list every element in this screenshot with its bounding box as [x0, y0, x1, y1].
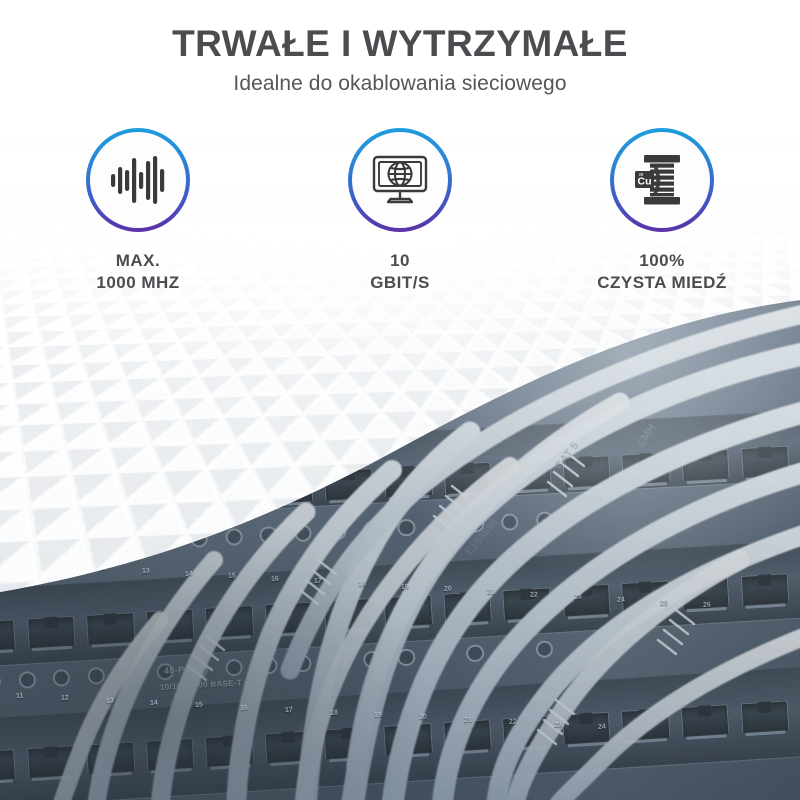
feature-item-speed: 10 GBIT/S [325, 128, 475, 294]
feature-label-copper: 100% CZYSTA MIEDŹ [597, 250, 726, 294]
switch-port-number: 19 [401, 583, 409, 590]
feature-label-speed: 10 GBIT/S [370, 250, 430, 294]
feature-item-copper: Cu 29 100% CZYSTA MIEDŹ [587, 128, 737, 294]
switch-port-number: 16 [240, 704, 248, 711]
page-title: TRWAŁE I WYTRZYMAŁE [0, 24, 800, 63]
switch-port-number: 15 [228, 573, 236, 580]
copper-atomic-number: 29 [639, 172, 644, 177]
ring-inner-disc [352, 132, 448, 228]
switch-port-number: 22 [509, 719, 517, 726]
cable-print-cmh: CMH [635, 422, 659, 450]
switch-port-number: 14 [185, 570, 193, 577]
switch-port-number: 24 [598, 724, 606, 731]
switch-port-number: 24 [617, 597, 625, 604]
switch-port-number: 26 [703, 602, 711, 609]
switch-port-number: 18 [329, 709, 337, 716]
feature-label-frequency: MAX. 1000 MHZ [96, 250, 179, 294]
switch-port-number: 21 [464, 716, 472, 723]
signal-waveform-icon [109, 154, 167, 206]
switch-port-number: 23 [553, 721, 561, 728]
switch-port-number: 13 [105, 697, 113, 704]
ring-inner-disc: Cu 29 [614, 132, 710, 228]
copper-spool-icon: Cu 29 [633, 151, 691, 209]
switch-port-number: 15 [195, 702, 203, 709]
switch-port-number: 14 [150, 700, 158, 707]
switch-port-number: 20 [444, 586, 452, 593]
header-block: TRWAŁE I WYTRZYMAŁE Idealne do okablowan… [0, 24, 800, 96]
switch-port-number: 22 [530, 591, 538, 598]
monitor-globe-icon [369, 152, 431, 208]
switch-port-number: 16 [271, 575, 279, 582]
switch-port-number: 19 [374, 712, 382, 719]
switch-port-number: 13 [141, 567, 149, 574]
page-subtitle: Idealne do okablowania sieciowego [0, 72, 800, 96]
gradient-ring: Cu 29 [610, 128, 714, 232]
feature-item-frequency: MAX. 1000 MHZ [63, 128, 213, 294]
switch-port-number: 17 [285, 707, 293, 714]
gradient-ring [86, 128, 190, 232]
switch-port-number: 25 [660, 599, 668, 606]
switch-port-number: 21 [487, 589, 495, 596]
copper-symbol-text: Cu [638, 176, 652, 188]
ring-inner-disc [90, 132, 186, 228]
switch-port-number: 23 [573, 594, 581, 601]
switch-port-number: 18 [357, 581, 365, 588]
switch-port-number: 20 [419, 714, 427, 721]
switch-port-number: 17 [314, 578, 322, 585]
feature-list: MAX. 1000 MHZ [0, 128, 800, 294]
switch-port-number: 12 [61, 695, 69, 702]
switch-port-number: 11 [16, 692, 24, 699]
promo-banner: 48-PORT 10/100/1000 BASE-T [0, 0, 800, 800]
gradient-ring [348, 128, 452, 232]
